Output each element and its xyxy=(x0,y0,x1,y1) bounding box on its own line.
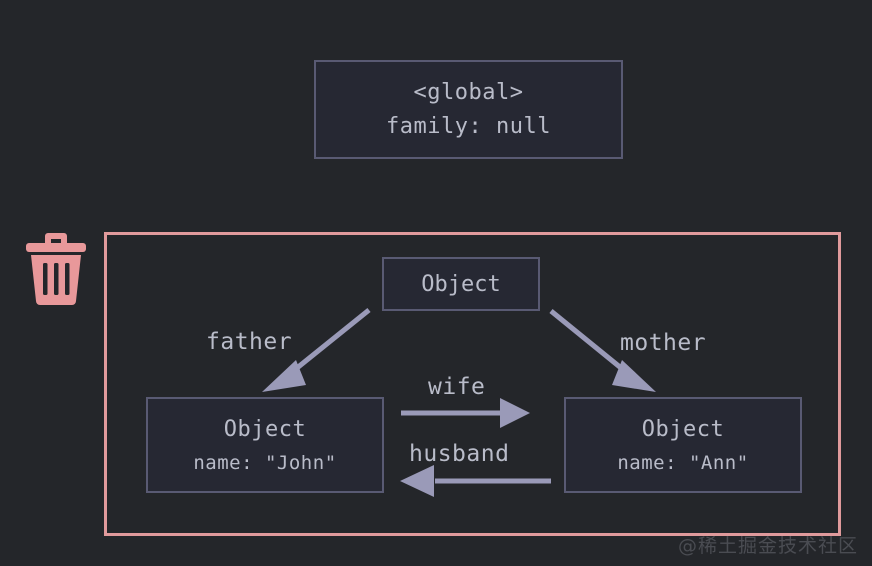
root-object-box: Object xyxy=(382,257,540,311)
trash-icon[interactable] xyxy=(25,230,87,306)
ann-object-title: Object xyxy=(642,417,724,442)
john-object-property: name: "John" xyxy=(193,452,336,474)
edge-label-wife: wife xyxy=(428,374,485,400)
global-scope-title: <global> xyxy=(414,80,524,105)
global-scope-box: <global> family: null xyxy=(314,60,623,159)
watermark: @稀土掘金技术社区 xyxy=(678,531,858,558)
john-object-box: Object name: "John" xyxy=(146,397,384,493)
ann-object-property: name: "Ann" xyxy=(617,452,748,474)
edge-label-father: father xyxy=(206,329,292,355)
ann-object-box: Object name: "Ann" xyxy=(564,397,802,493)
root-object-title: Object xyxy=(421,272,500,297)
diagram-canvas: <global> family: null Object Object name… xyxy=(0,0,872,566)
john-object-title: Object xyxy=(224,417,306,442)
global-scope-property: family: null xyxy=(386,114,551,139)
edge-label-mother: mother xyxy=(620,330,706,356)
edge-label-husband: husband xyxy=(409,441,509,467)
